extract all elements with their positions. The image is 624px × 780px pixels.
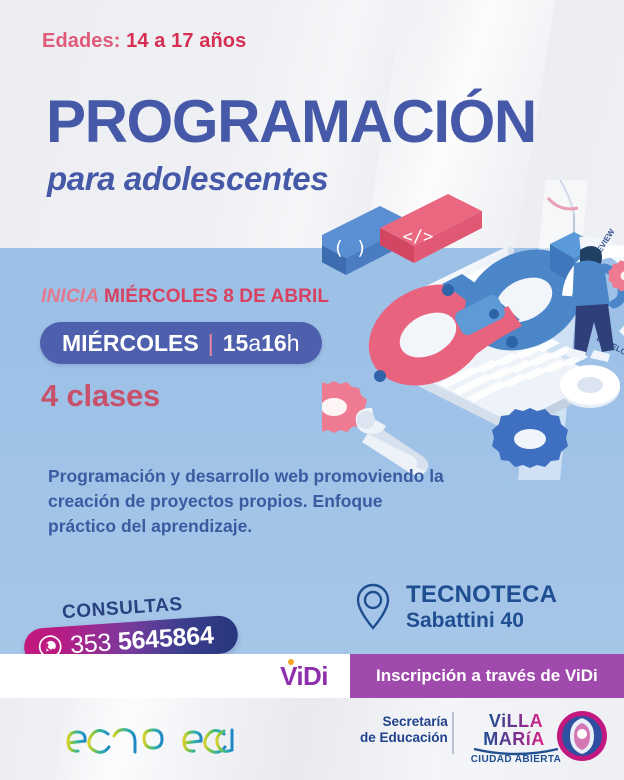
vidi-logo: ViDi bbox=[258, 660, 350, 692]
venue-street: Sabattini 40 bbox=[406, 609, 557, 633]
start-prefix: INICIA bbox=[41, 286, 104, 307]
classes-count: 4 clases bbox=[41, 378, 160, 414]
schedule-separator: | bbox=[208, 332, 214, 355]
villa-line-2: MARíA bbox=[483, 729, 545, 749]
secretaria-line-1: Secretaría bbox=[360, 714, 448, 730]
phone-local-number: 5645864 bbox=[117, 621, 215, 656]
ages-line: Edades: 14 a 17 años bbox=[42, 30, 246, 53]
programming-illustration: ( ) </> bbox=[322, 180, 624, 480]
flyer-root: ( ) </> bbox=[0, 0, 624, 780]
time-joiner: a bbox=[248, 332, 261, 355]
blue-gear bbox=[492, 408, 568, 468]
villa-tagline: CIUDAD ABIERTA bbox=[471, 754, 562, 765]
villa-maria-logo: ViLLA MARíA CIUDAD ABIERTA bbox=[468, 708, 564, 766]
svg-text:</>: </> bbox=[403, 227, 434, 247]
address-text: TECNOTECA Sabattini 40 bbox=[406, 582, 557, 632]
secretaria-line-2: de Educación bbox=[360, 730, 448, 746]
page-title: PROGRAMACIÓN bbox=[46, 92, 536, 152]
white-torus bbox=[560, 365, 620, 408]
vidi-wordmark: ViDi bbox=[280, 661, 328, 692]
time-from: 15 bbox=[223, 332, 249, 355]
villa-line-1: ViLLA bbox=[489, 711, 543, 731]
registration-bar[interactable]: Inscripción a través de ViDi bbox=[350, 654, 624, 698]
schedule-day: MIÉRCOLES bbox=[62, 332, 199, 355]
svg-text:( ): ( ) bbox=[333, 237, 367, 259]
time-unit: h bbox=[287, 332, 300, 355]
secretaria-educacion-logo: Secretaría de Educación bbox=[360, 714, 448, 747]
registration-message: Inscripción a través de ViDi bbox=[376, 666, 598, 686]
time-to: 16 bbox=[261, 332, 287, 355]
start-date-line: INICIA MIÉRCOLES 8 DE ABRIL bbox=[41, 286, 329, 308]
vidi-dot-icon bbox=[288, 659, 294, 665]
schedule-pill: MIÉRCOLES | 15 a 16 h bbox=[40, 322, 322, 364]
course-description: Programación y desarrollo web promoviend… bbox=[48, 464, 448, 539]
map-pin-icon bbox=[352, 582, 394, 632]
page-subtitle: para adolescentes bbox=[47, 162, 328, 195]
tecnoteca-logo bbox=[48, 706, 234, 762]
phone-number: 353 5645864 bbox=[69, 623, 214, 658]
footer-divider bbox=[452, 712, 454, 754]
villa-maria-crest bbox=[556, 710, 608, 762]
start-date: MIÉRCOLES 8 DE ABRIL bbox=[104, 286, 329, 307]
ages-value: 14 a 17 años bbox=[126, 30, 246, 52]
code-angle-card: </> bbox=[380, 194, 482, 263]
venue-address: TECNOTECA Sabattini 40 bbox=[352, 582, 557, 632]
ages-label: Edades: bbox=[42, 30, 126, 52]
venue-name: TECNOTECA bbox=[406, 582, 557, 609]
